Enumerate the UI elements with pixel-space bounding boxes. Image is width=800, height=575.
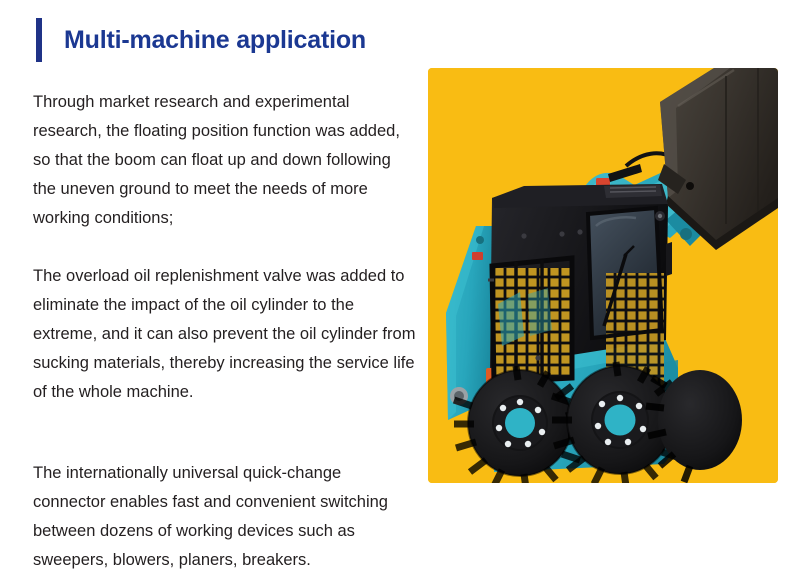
- paragraph-3: The internationally universal quick-chan…: [33, 459, 418, 575]
- body-copy: Through market research and experimental…: [33, 88, 418, 575]
- hub-rear: [505, 408, 535, 438]
- paragraph-1: Through market research and experimental…: [33, 88, 418, 233]
- product-photo-panel: RIPPA ND1670: [428, 68, 778, 483]
- door-handle: [666, 242, 672, 276]
- text-column: Multi-machine application Through market…: [0, 0, 420, 567]
- skid-steer-loader-illustration: RIPPA ND1670: [428, 68, 778, 483]
- page-title-row: Multi-machine application: [36, 18, 366, 62]
- hub-front: [605, 405, 636, 436]
- paragraph-2: The overload oil replenishment valve was…: [33, 262, 418, 407]
- warning-decal: [472, 252, 483, 260]
- title-accent-bar: [36, 18, 42, 62]
- page-title: Multi-machine application: [64, 28, 366, 53]
